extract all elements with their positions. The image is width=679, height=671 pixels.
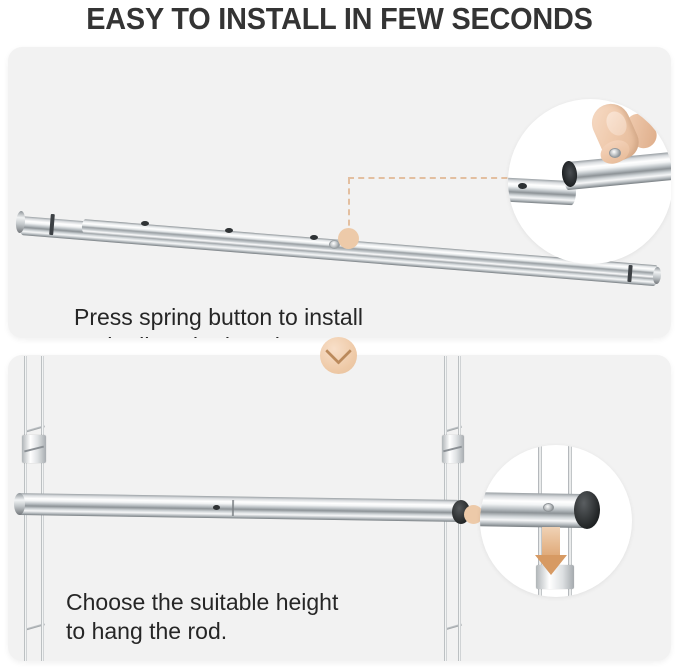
inset-rod-spring-button [543, 503, 554, 512]
installed-rod-seam [232, 500, 234, 516]
rod-band-right [627, 265, 632, 282]
down-arrow-icon-shaft [542, 527, 560, 557]
rod-end-cap-right [652, 267, 661, 285]
callout-marker-dot [338, 228, 359, 249]
inset-rod-end-cap-black [574, 491, 600, 529]
page-title: EASY TO INSTALL IN FEW SECONDS [24, 1, 655, 37]
down-arrow-icon-head [535, 555, 567, 575]
rod-adjustment-hole [310, 235, 318, 240]
installed-rod-hole [213, 505, 220, 510]
panel-install-step-1: Press spring button to install and adjus… [8, 47, 671, 338]
chevron-down-icon[interactable] [320, 337, 357, 374]
rod-end-cap-left [15, 211, 26, 234]
magnifier-inset-rod-height [480, 445, 632, 597]
inset-spring-button [609, 148, 621, 158]
installed-rod-cap-left [14, 493, 25, 515]
chevron-glyph [325, 338, 352, 365]
infographic-stage: EASY TO INSTALL IN FEW SECONDS [0, 0, 679, 671]
rod-adjustment-hole [225, 228, 233, 233]
caption-step-1: Press spring button to install and adjus… [74, 303, 363, 338]
rod-adjustment-hole [141, 221, 149, 226]
caption-step-2: Choose the suitable height to hang the r… [66, 588, 338, 646]
inset-installed-rod [480, 492, 587, 528]
rod-band-left [49, 214, 54, 235]
magnifier-inset-spring-button [508, 99, 671, 264]
